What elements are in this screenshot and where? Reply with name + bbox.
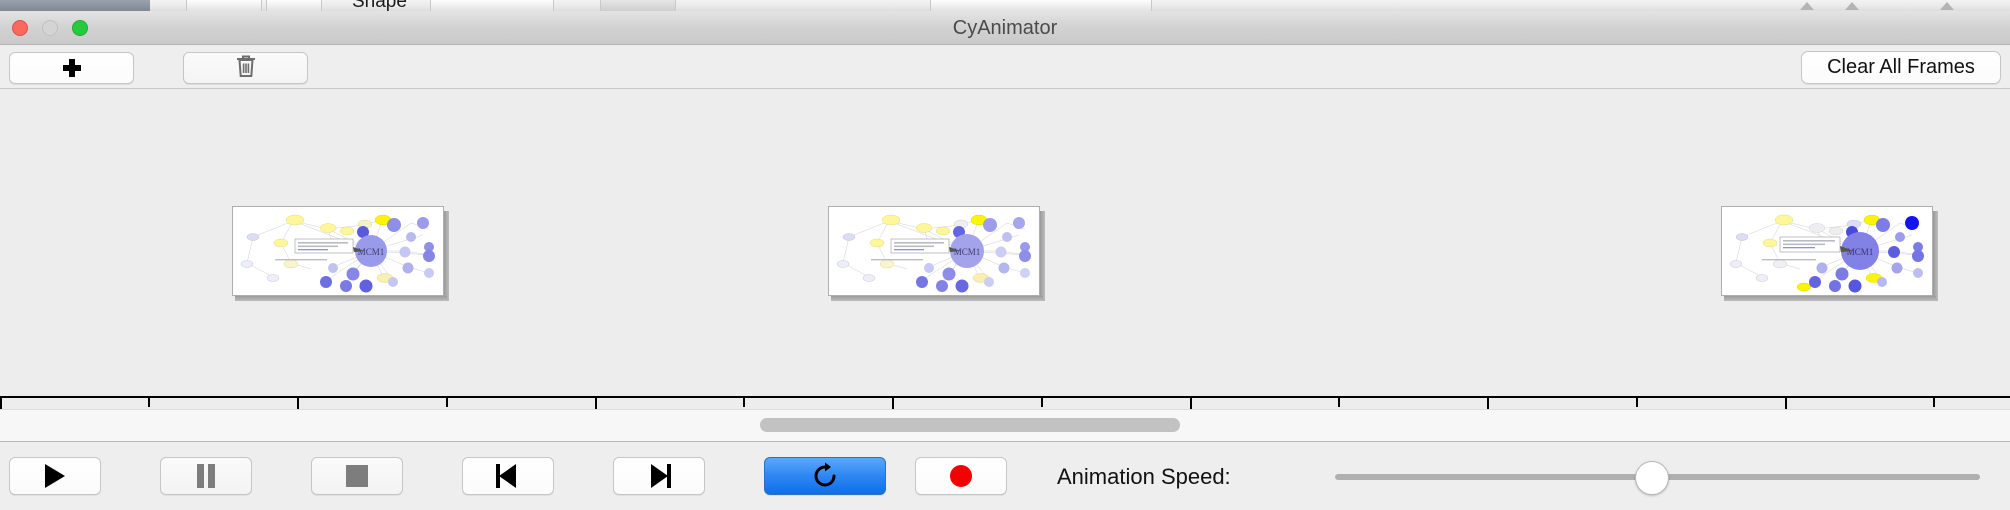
frame-thumbnails: MCM1 bbox=[0, 89, 2010, 314]
stop-button[interactable] bbox=[311, 457, 403, 495]
skip-to-start-icon bbox=[496, 464, 520, 488]
axis-tick-major bbox=[892, 398, 894, 409]
frame-shadow bbox=[1933, 211, 1938, 301]
record-button[interactable] bbox=[915, 457, 1007, 495]
play-button[interactable] bbox=[9, 457, 101, 495]
frame-thumbnail[interactable]: MCM1 bbox=[232, 206, 444, 296]
add-frame-button[interactable] bbox=[9, 52, 134, 84]
axis-tick-minor bbox=[743, 398, 745, 407]
svg-text:MCM1: MCM1 bbox=[1847, 247, 1874, 257]
cyanimator-window: Shape CyAnimator bbox=[0, 0, 2010, 510]
axis-tick-major bbox=[0, 398, 2, 409]
timeline-panel: MCM1 bbox=[0, 89, 2010, 409]
playback-controls: Animation Speed: bbox=[0, 442, 2010, 510]
window-titlebar: CyAnimator bbox=[0, 11, 2010, 45]
pause-icon bbox=[196, 464, 216, 488]
network-thumbnail: MCM1 bbox=[828, 206, 1040, 296]
pause-button[interactable] bbox=[160, 457, 252, 495]
axis-tick-major bbox=[595, 398, 597, 409]
frame-shadow bbox=[1724, 296, 1936, 301]
background-chip bbox=[430, 0, 554, 11]
loop-button[interactable] bbox=[764, 457, 886, 495]
background-window-titlebar bbox=[0, 0, 150, 11]
axis-tick-minor bbox=[1041, 398, 1043, 407]
animation-speed-slider[interactable] bbox=[1335, 474, 1980, 480]
axis-tick-major bbox=[1785, 398, 1787, 409]
frame-toolbar: Clear All Frames bbox=[0, 45, 2010, 89]
timeline-scrollbar[interactable] bbox=[0, 409, 2010, 442]
play-icon bbox=[45, 464, 65, 488]
plus-icon bbox=[62, 58, 82, 78]
animation-speed-label: Animation Speed: bbox=[1057, 464, 1231, 490]
background-chip bbox=[186, 0, 262, 11]
svg-text:MCM1: MCM1 bbox=[954, 247, 981, 257]
axis-tick-minor bbox=[446, 398, 448, 407]
axis-tick-minor bbox=[1933, 398, 1935, 407]
frame-thumbnail[interactable]: MCM1 bbox=[828, 206, 1040, 296]
axis-tick-major bbox=[1487, 398, 1489, 409]
frame-shadow bbox=[1040, 211, 1045, 301]
skip-to-start-button[interactable] bbox=[462, 457, 554, 495]
clear-all-frames-button[interactable]: Clear All Frames bbox=[1801, 51, 2001, 84]
background-window-label: Shape bbox=[352, 0, 407, 11]
axis-tick-minor bbox=[1636, 398, 1638, 407]
frame-shadow bbox=[444, 211, 449, 301]
background-arrow-icon bbox=[1940, 2, 1954, 10]
axis-tick-major bbox=[297, 398, 299, 409]
network-thumbnail: MCM1 bbox=[232, 206, 444, 296]
axis-tick-minor bbox=[148, 398, 150, 407]
timeline-axis bbox=[0, 396, 2010, 398]
background-chip bbox=[266, 0, 322, 11]
svg-text:MCM1: MCM1 bbox=[358, 247, 385, 257]
axis-tick-minor bbox=[1338, 398, 1340, 407]
background-window-strip: Shape bbox=[0, 0, 2010, 11]
frame-shadow bbox=[235, 296, 447, 301]
background-chip bbox=[600, 0, 676, 11]
delete-frame-button[interactable] bbox=[183, 52, 308, 84]
scrollbar-thumb[interactable] bbox=[760, 418, 1180, 432]
window-title: CyAnimator bbox=[0, 11, 2010, 45]
frame-thumbnail[interactable]: MCM1 bbox=[1721, 206, 1933, 296]
record-icon bbox=[950, 465, 972, 487]
loop-icon bbox=[811, 462, 839, 490]
background-chip bbox=[930, 0, 1152, 11]
skip-to-end-icon bbox=[647, 464, 671, 488]
background-arrow-icon bbox=[1800, 2, 1814, 10]
slider-thumb[interactable] bbox=[1635, 461, 1669, 495]
background-arrow-icon bbox=[1845, 2, 1859, 10]
stop-icon bbox=[346, 465, 368, 487]
axis-tick-major bbox=[1190, 398, 1192, 409]
network-thumbnail: MCM1 bbox=[1721, 206, 1933, 296]
frame-shadow bbox=[831, 296, 1043, 301]
skip-to-end-button[interactable] bbox=[613, 457, 705, 495]
trash-icon bbox=[234, 53, 258, 84]
